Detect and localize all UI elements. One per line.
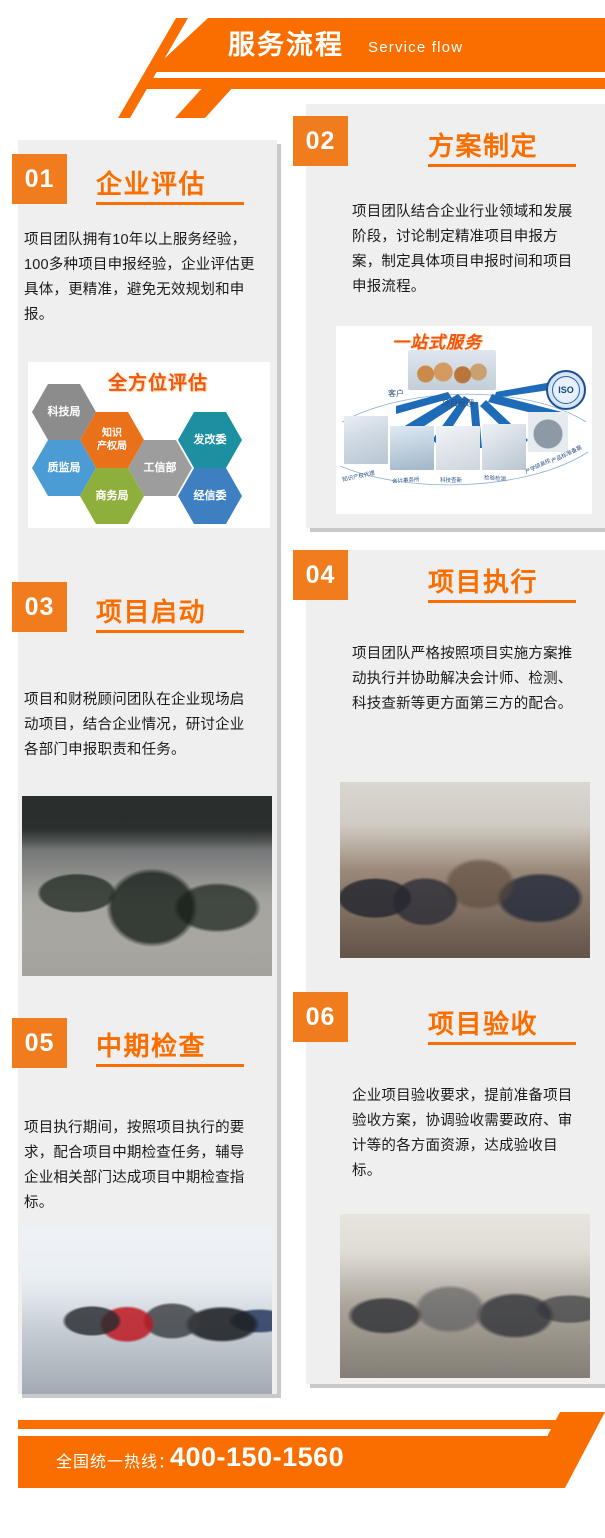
header-underbar [140, 78, 605, 89]
one-stop-item-3: 检验检测 [484, 473, 507, 483]
card-02-title-rule [428, 164, 576, 167]
page-footer: 全国统一热线： 400-150-1560 [0, 1398, 605, 1538]
one-stop-thumb-novelty [436, 426, 480, 470]
card-03[interactable]: 03 项目启动 项目和财税顾问团队在企业现场启动项目，结合企业情况，研讨企业各部… [0, 560, 277, 995]
service-flow-poster: 服务流程 Service flow 01 企业评估 项目团队拥有10年以上服务经… [0, 0, 605, 1538]
card-03-number: 03 [12, 582, 67, 632]
photo-meeting-room [22, 796, 272, 976]
one-stop-thumb-accounting [390, 426, 434, 470]
card-04-description: 项目团队严格按照项目实施方案推动执行并协助解决会计师、检测、科技查新等更方面第三… [352, 642, 584, 717]
card-04-number: 04 [293, 550, 348, 600]
one-stop-thumb-testing [482, 424, 526, 470]
page-subtitle: Service flow [368, 36, 463, 60]
page-header: 服务流程 Service flow [0, 0, 605, 118]
photo-acceptance-meeting [340, 1214, 590, 1378]
card-01-title: 企业评估 [96, 164, 206, 201]
card-06-number: 06 [293, 992, 348, 1042]
photo-working-session [340, 782, 590, 958]
card-01[interactable]: 01 企业评估 项目团队拥有10年以上服务经验，100多种项目申报经验，企业评估… [0, 140, 277, 564]
cards-grid: 01 企业评估 项目团队拥有10年以上服务经验，100多种项目申报经验，企业评估… [0, 104, 605, 1394]
hex-diagram: 全方位评估 科技局 知识产权局 质监局 工信部 商务局 发改委 经信委 [28, 362, 270, 528]
photo-site-visit [22, 1228, 272, 1394]
card-02-number: 02 [293, 116, 348, 166]
hotline-number[interactable]: 400-150-1560 [170, 1442, 344, 1473]
card-05-title: 中期检查 [96, 1026, 206, 1063]
card-06-title: 项目验收 [428, 1004, 538, 1041]
one-stop-thumb-ip [344, 416, 388, 464]
card-03-title-rule [96, 630, 244, 633]
card-04[interactable]: 04 项目执行 项目团队严格按照项目实施方案推动执行并协助解决会计师、检测、科技… [288, 550, 605, 985]
card-04-title-rule [428, 600, 576, 603]
one-stop-diagram: 一站式服务 [336, 326, 592, 514]
card-02-description: 项目团队结合企业行业领域和发展阶段，讨论制定精准项目申报方案，制定具体项目申报时… [352, 200, 584, 300]
iso-seal-icon: ISO [546, 370, 586, 410]
one-stop-item-2: 科技查新 [440, 476, 462, 484]
card-05-description: 项目执行期间，按照项目执行的要求，配合项目中期检查任务，辅导企业相关部门达成项目… [24, 1116, 256, 1216]
page-title: 服务流程 [228, 26, 344, 64]
one-stop-client-label: 客户 [388, 388, 404, 399]
one-stop-thumb-university [528, 412, 568, 452]
card-06-description: 企业项目验收要求，提前准备项目验收方案，协调验收需要政府、审计等的各方面资源，达… [352, 1084, 584, 1184]
card-02[interactable]: 02 方案制定 项目团队结合企业行业领域和发展阶段，讨论制定精准项目申报方案，制… [288, 104, 605, 528]
hotline-label: 全国统一热线： [56, 1448, 175, 1472]
card-03-title: 项目启动 [96, 592, 206, 629]
card-01-number: 01 [12, 154, 67, 204]
card-06[interactable]: 06 项目验收 企业项目验收要求，提前准备项目验收方案，协调验收需要政府、审计等… [288, 984, 605, 1384]
card-06-title-rule [428, 1042, 576, 1045]
card-01-title-rule [96, 202, 244, 205]
card-03-description: 项目和财税顾问团队在企业现场启动项目，结合企业情况，研讨企业各部门申报职责和任务… [24, 688, 256, 763]
footer-thin-bar [18, 1420, 588, 1429]
card-05-title-rule [96, 1064, 244, 1067]
hex-node-jingxin: 经信委 [178, 468, 242, 524]
hex-node-fagai: 发改委 [178, 412, 242, 468]
card-01-description: 项目团队拥有10年以上服务经验，100多种项目申报经验，企业评估更具体，更精准，… [24, 228, 256, 328]
card-04-title: 项目执行 [428, 562, 538, 599]
card-02-title: 方案制定 [428, 126, 538, 163]
card-05[interactable]: 05 中期检查 项目执行期间，按照项目执行的要求，配合项目中期检查任务，辅导企业… [0, 994, 277, 1394]
one-stop-center-label: 项目经理 [442, 398, 474, 409]
hex-diagram-title: 全方位评估 [108, 368, 208, 395]
card-05-number: 05 [12, 1018, 67, 1068]
